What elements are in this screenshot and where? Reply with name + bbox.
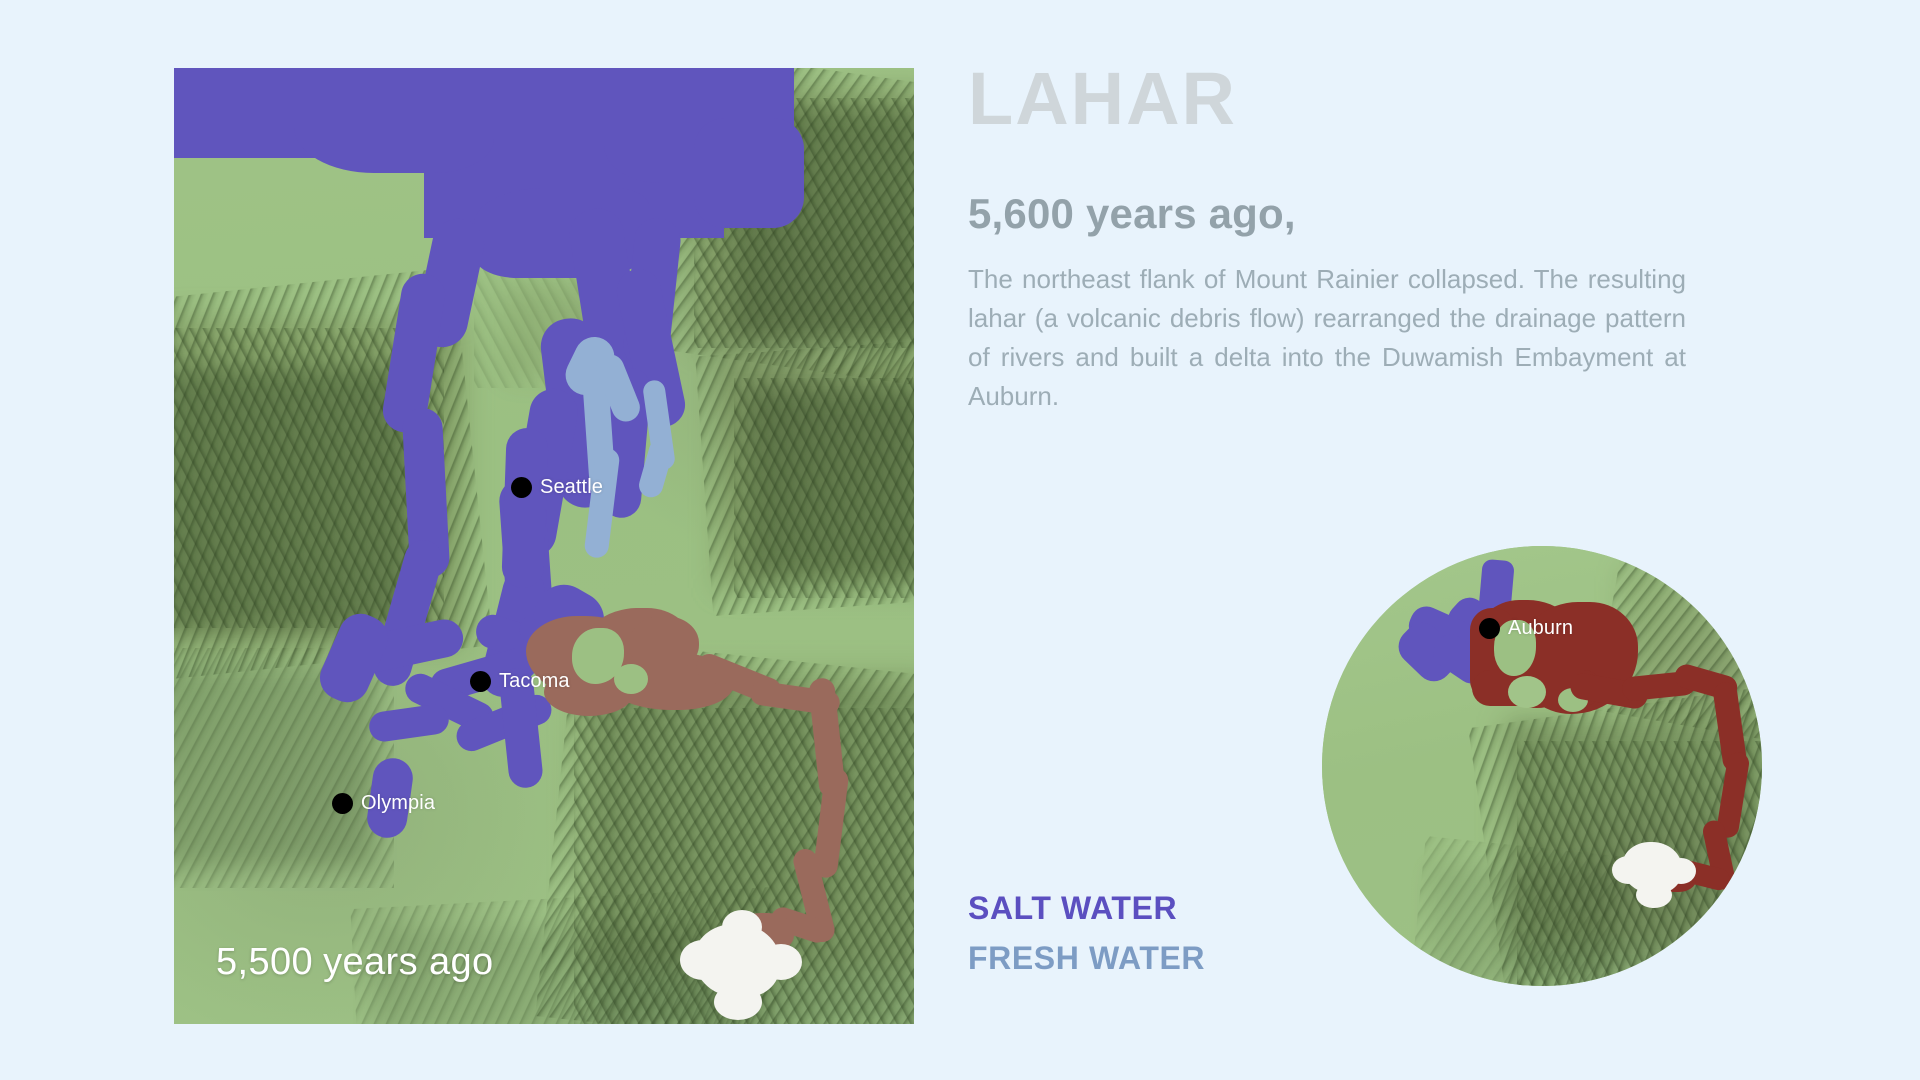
main-terrain-map: Seattle Tacoma Olympia 5,500years ago	[174, 68, 914, 1024]
map-time-caption: 5,500years ago	[216, 941, 494, 984]
page-title: LAHAR	[968, 60, 1698, 138]
legend-item-fresh-water: FRESH WATER	[968, 934, 1205, 984]
mount-rainier-glacier	[174, 68, 914, 1024]
city-dot-icon	[470, 671, 491, 692]
city-label: Auburn	[1508, 617, 1573, 640]
city-marker-olympia[interactable]: Olympia	[332, 792, 435, 815]
city-marker-tacoma[interactable]: Tacoma	[470, 670, 570, 693]
city-marker-seattle[interactable]: Seattle	[511, 476, 603, 499]
map-caption-suffix: years ago	[323, 941, 493, 983]
legend-item-salt-water: SALT WATER	[968, 884, 1205, 934]
city-label: Olympia	[361, 792, 435, 815]
city-marker-auburn[interactable]: Auburn	[1479, 617, 1573, 640]
city-dot-icon	[511, 477, 532, 498]
city-label: Tacoma	[499, 670, 570, 693]
map-caption-year: 5,500	[216, 941, 313, 983]
city-label: Seattle	[540, 476, 603, 499]
inset-glacier	[1322, 546, 1762, 986]
body-paragraph: The northeast flank of Mount Rainier col…	[968, 260, 1686, 416]
inset-detail-map: Auburn	[1322, 546, 1762, 986]
infographic-root: Seattle Tacoma Olympia 5,500years ago LA…	[0, 0, 1920, 1080]
city-dot-icon	[332, 793, 353, 814]
text-panel: LAHAR 5,600 years ago, The northeast fla…	[968, 60, 1698, 416]
city-dot-icon	[1479, 618, 1500, 639]
section-subtitle: 5,600 years ago,	[968, 190, 1698, 238]
map-legend: SALT WATER FRESH WATER	[968, 884, 1205, 983]
